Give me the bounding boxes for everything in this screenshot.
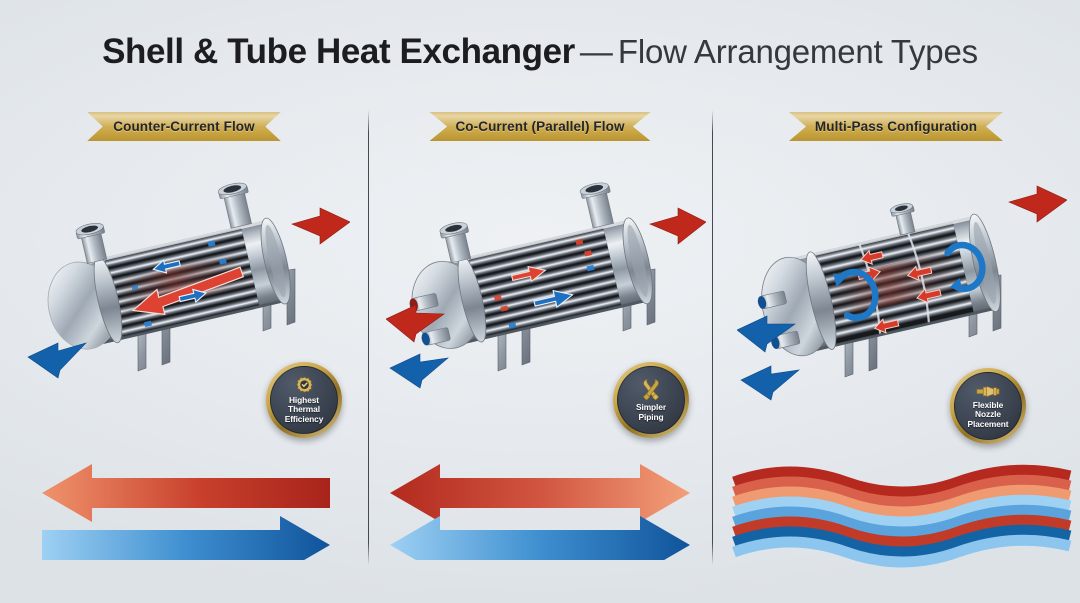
banner-multi-pass: Multi-Pass Configuration (789, 112, 1003, 141)
flow-legend-multi-pass (712, 452, 1080, 572)
panel-multi-pass: Multi-Pass Configuration (712, 100, 1080, 580)
badge-flexible-nozzle-placement[interactable]: Flexible Nozzle Placement (950, 368, 1026, 444)
heat-exchanger-multi-pass (737, 152, 1067, 407)
inlet-arrow-cold (28, 343, 86, 378)
flow-legend-co-current (368, 450, 712, 560)
inlet-arrow-hot (1009, 186, 1067, 222)
page-title-light: Flow Arrangement Types (618, 33, 978, 70)
banner-co-current: Co-Current (Parallel) Flow (429, 112, 650, 141)
legend-arrow-hot-double (390, 464, 690, 522)
inlet-arrow-cold (390, 354, 448, 388)
inlet-arrow-cold-lower (741, 366, 799, 400)
legend-arrow-cold-double (390, 516, 690, 560)
tube-bundle (469, 228, 621, 337)
vessel-body-group (392, 176, 658, 356)
legend-arrow-hot-left (42, 464, 330, 522)
badge-inner: Simpler Piping (617, 366, 685, 434)
nozzle-top-left (75, 221, 111, 264)
badge-inner: Highest Thermal Efficiency (270, 366, 338, 434)
legend-arrow-cold-right (42, 516, 330, 560)
inlet-arrow-hot (650, 208, 706, 244)
banner-label: Multi-Pass Configuration (815, 119, 977, 134)
gear-check-icon (295, 376, 314, 395)
flow-legend-counter-current (0, 450, 368, 560)
badge-label-line-3: Efficiency (285, 415, 324, 425)
crossed-tools-icon (639, 378, 663, 402)
vessel-body-group (744, 186, 1007, 363)
wave-band-group (734, 470, 1070, 562)
nozzle-top-left (439, 220, 475, 263)
vessel-body-group (30, 176, 296, 356)
page-title-dash: — (575, 33, 618, 70)
badge-highest-thermal-efficiency[interactable]: Highest Thermal Efficiency (266, 362, 342, 438)
page-title-bold: Shell & Tube Heat Exchanger (102, 32, 575, 71)
tube-bundle (105, 228, 259, 337)
banner-label: Co-Current (Parallel) Flow (455, 119, 624, 134)
inlet-arrow-hot (292, 208, 350, 244)
badge-simpler-piping[interactable]: Simpler Piping (613, 362, 689, 438)
banner-label: Counter-Current Flow (113, 119, 255, 134)
panel-co-current: Co-Current (Parallel) Flow (368, 100, 712, 580)
nozzle-top-right (579, 181, 617, 230)
badge-label-line-2: Piping (639, 413, 664, 423)
badge-inner: Flexible Nozzle Placement (954, 372, 1022, 440)
page-title: Shell & Tube Heat Exchanger—Flow Arrange… (0, 32, 1080, 72)
nozzle-top-right (217, 181, 255, 230)
nozzle-top-center (889, 202, 919, 237)
nozzle-fitting-icon (976, 383, 1000, 400)
panel-counter-current: Counter-Current Flow (0, 100, 368, 580)
banner-counter-current: Counter-Current Flow (87, 112, 281, 141)
badge-label-line-3: Placement (968, 420, 1009, 430)
